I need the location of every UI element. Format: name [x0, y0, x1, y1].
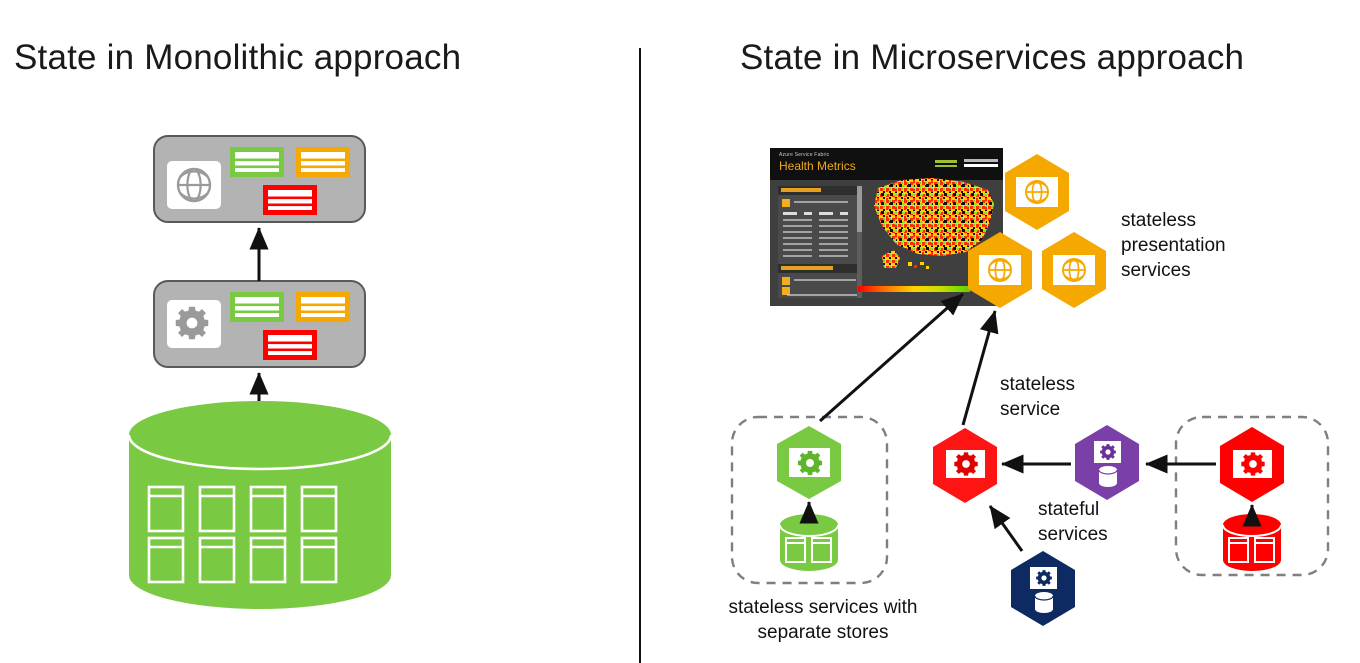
red-table — [263, 185, 317, 215]
arrow-green-to-presentation — [820, 294, 963, 421]
purple-stateful-service-hex[interactable] — [1075, 425, 1139, 500]
gear-icon — [798, 451, 822, 475]
orange-table — [296, 292, 350, 322]
label-stateful-services: stateful services — [1038, 497, 1108, 547]
shared-monolithic-database[interactable] — [129, 401, 391, 609]
green-stateless-service-hex[interactable] — [777, 426, 841, 499]
gear-icon — [1036, 570, 1052, 586]
database-icon — [1099, 466, 1117, 487]
navy-stateful-service-hex[interactable] — [1011, 551, 1075, 626]
arrow-navy-to-red — [990, 506, 1022, 551]
arrow-red-to-presentation — [963, 311, 995, 425]
label-stateless-service: stateless service — [1000, 372, 1075, 422]
gear-icon — [176, 307, 209, 340]
gear-icon — [1100, 444, 1116, 460]
diagram-stage — [0, 0, 1360, 663]
monolith-diagram — [129, 136, 391, 609]
red-stateless-service-hex-right[interactable] — [1220, 427, 1284, 502]
gear-icon — [1241, 452, 1264, 475]
red-stateless-service-hex[interactable] — [933, 428, 997, 503]
database-icon — [1035, 592, 1053, 613]
monolith-business-tier[interactable] — [154, 281, 365, 367]
green-store-cylinder[interactable] — [780, 514, 838, 571]
orange-table — [296, 147, 350, 177]
red-store-cylinder[interactable] — [1223, 514, 1281, 571]
presentation-hex-right[interactable] — [1042, 232, 1106, 308]
presentation-hex-left[interactable] — [968, 232, 1032, 308]
gear-icon — [954, 452, 977, 475]
green-table — [230, 147, 284, 177]
label-stateless-presentation-services: stateless presentation services — [1121, 208, 1226, 283]
slide-canvas: State in Monolithic approach State in Mi… — [0, 0, 1360, 663]
monolith-presentation-tier[interactable] — [154, 136, 365, 222]
red-table — [263, 330, 317, 360]
presentation-hex-top[interactable] — [1005, 154, 1069, 230]
label-separate-stores: stateless services with separate stores — [706, 595, 940, 645]
green-table — [230, 292, 284, 322]
